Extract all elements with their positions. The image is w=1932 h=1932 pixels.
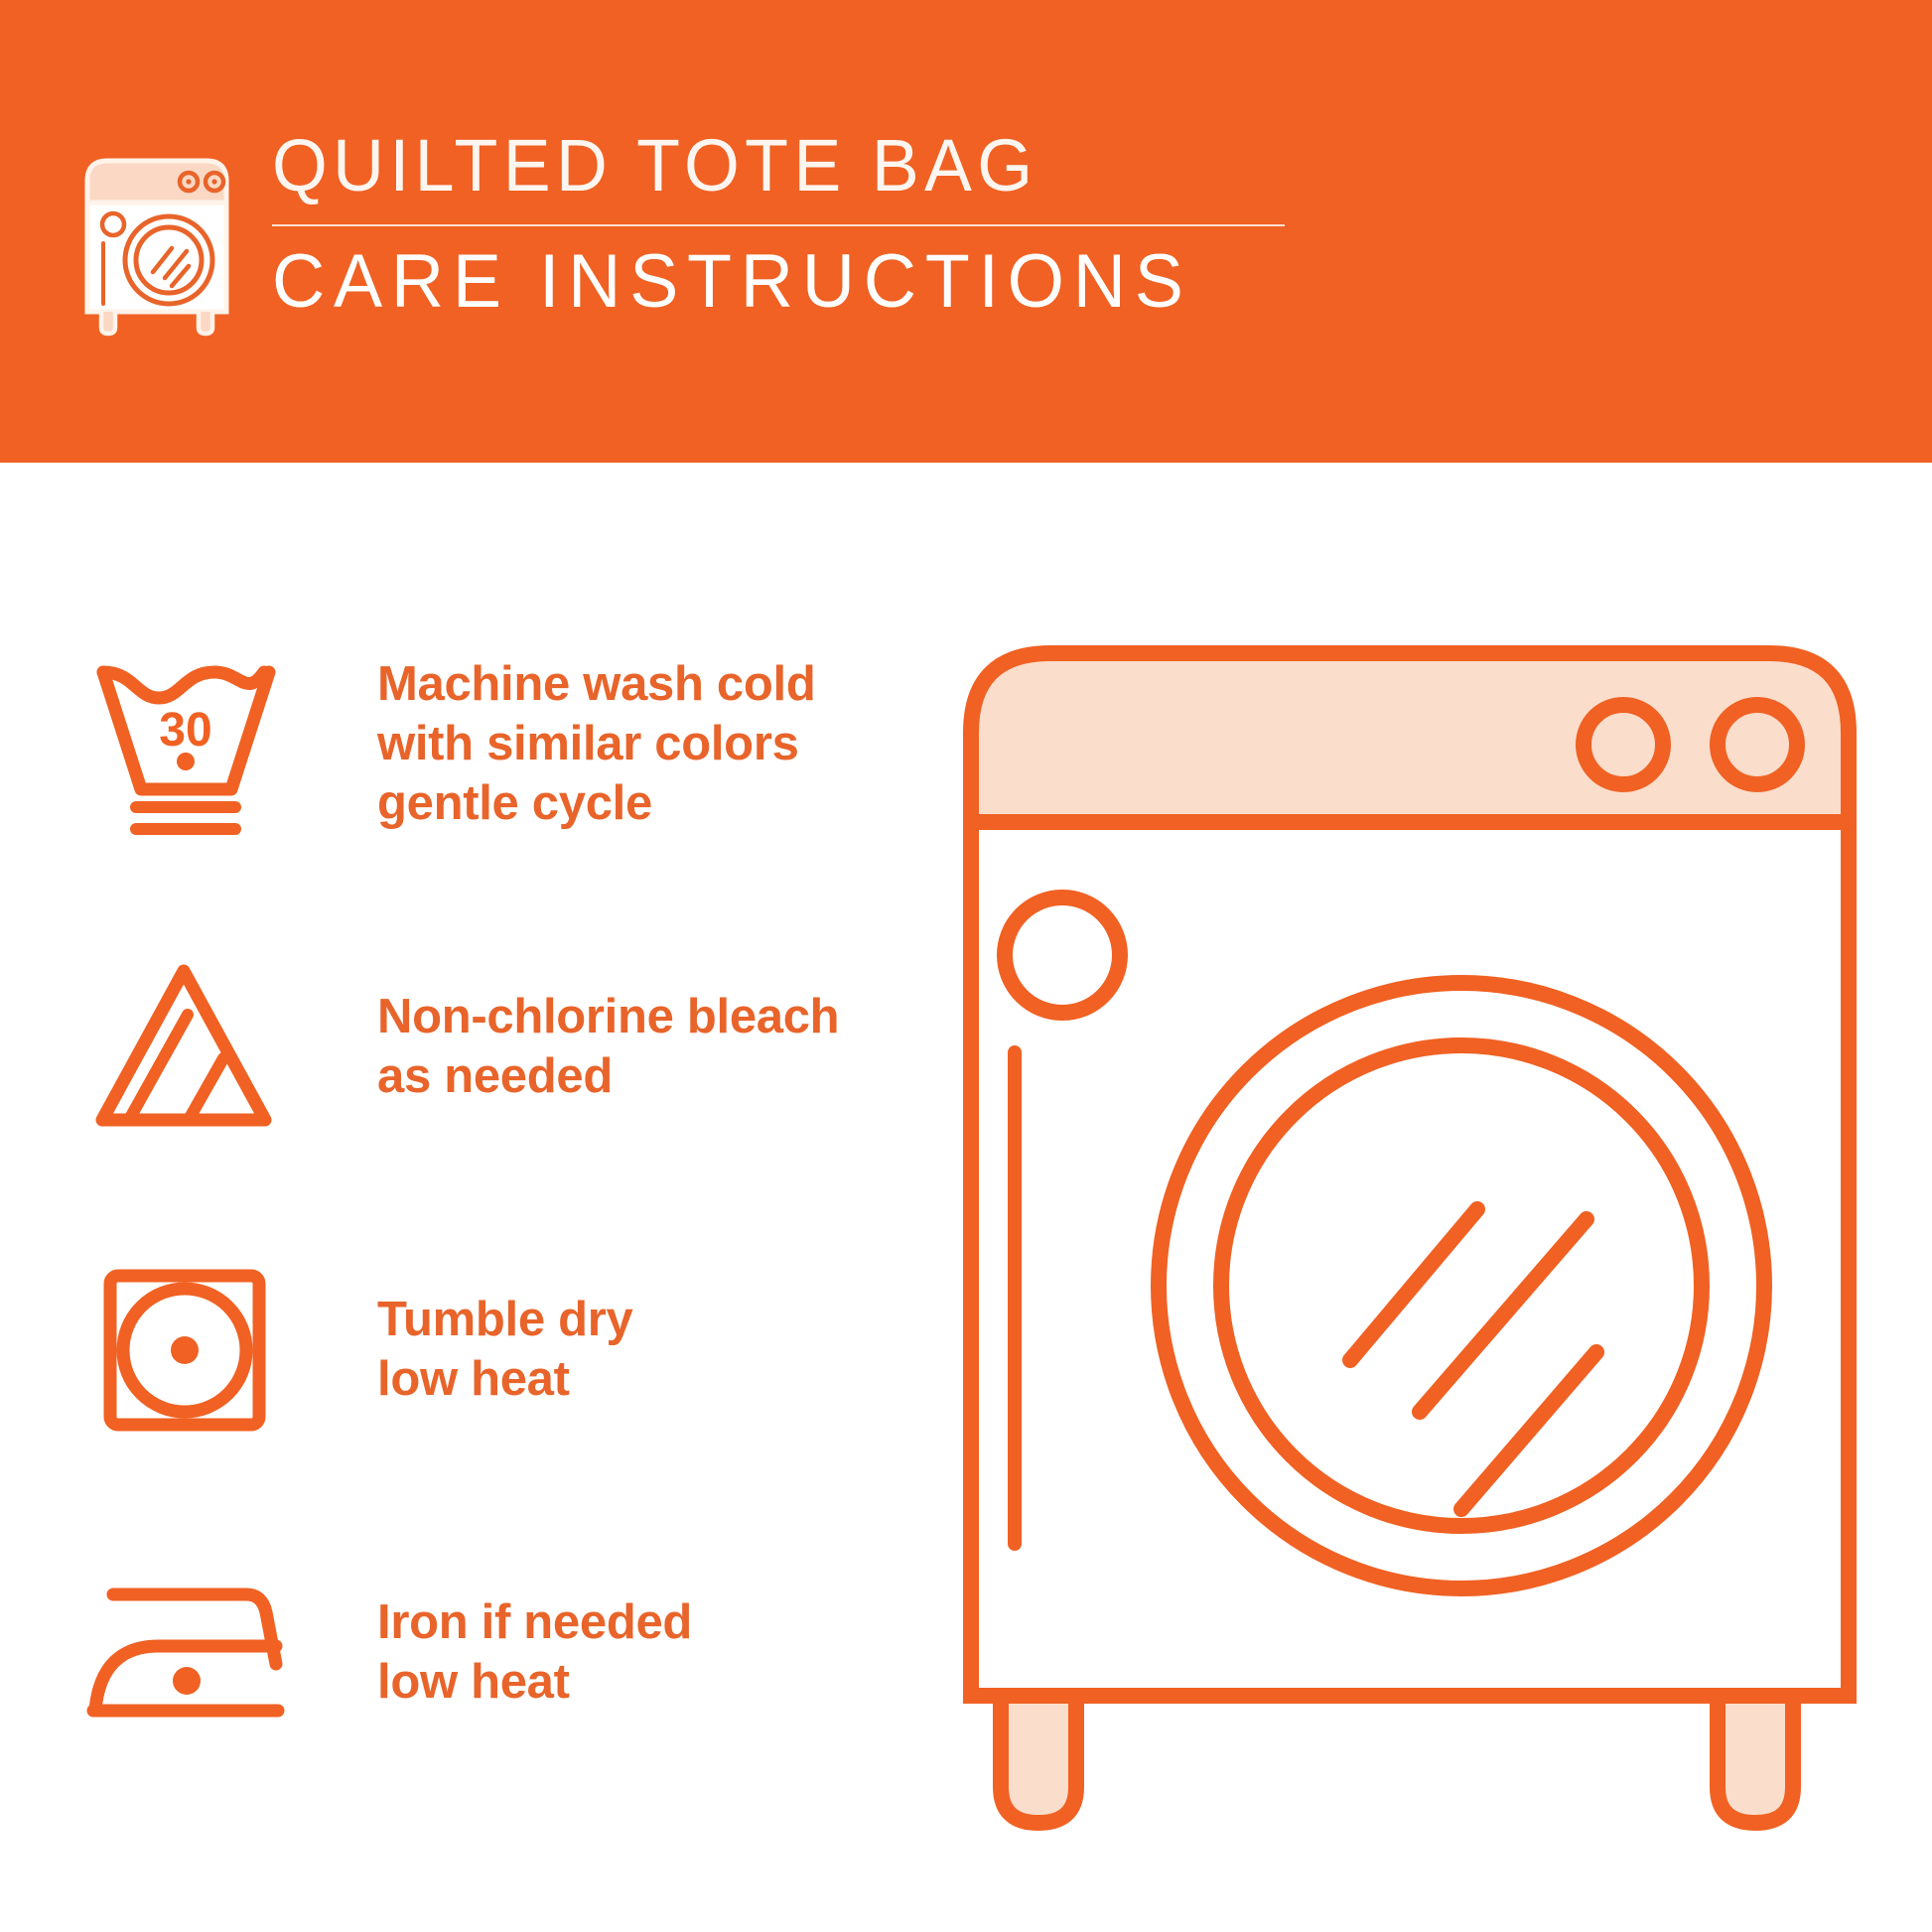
title-divider <box>272 224 1285 226</box>
machine-body <box>971 822 1849 1696</box>
care-item-tumble-dry: Tumble dry low heat <box>79 1251 953 1449</box>
wash-temperature-value: 30 <box>159 704 211 757</box>
care-instructions-list: 30 Machine wash cold with similar colors… <box>79 645 953 1752</box>
care-text-line: Tumble dry <box>377 1291 632 1350</box>
care-item-wash-text: Machine wash cold with similar colors ge… <box>377 655 815 833</box>
control-dial-left[interactable] <box>1584 705 1663 784</box>
tumble-dry-low-icon <box>79 1251 288 1449</box>
care-item-tumble-dry-text: Tumble dry low heat <box>377 1291 632 1410</box>
care-text-line: low heat <box>377 1653 692 1713</box>
care-text-line: Machine wash cold <box>377 655 815 715</box>
care-text-line: gentle cycle <box>377 774 815 834</box>
header-titles: QUILTED TOTE BAG CARE INSTRUCTIONS <box>272 127 1285 320</box>
care-text-line: with similar colors <box>377 715 815 774</box>
wash-tub-30-gentle-icon: 30 <box>79 645 288 844</box>
care-text-line: Iron if needed <box>377 1593 692 1653</box>
care-item-iron: Iron if needed low heat <box>79 1554 953 1752</box>
care-item-iron-text: Iron if needed low heat <box>377 1593 692 1713</box>
washing-machine-illustration <box>953 635 1866 1886</box>
care-text-line: as needed <box>377 1047 839 1107</box>
care-text-line: low heat <box>377 1350 632 1410</box>
care-item-bleach-text: Non-chlorine bleach as needed <box>377 988 839 1107</box>
non-chlorine-bleach-triangle-icon <box>79 948 288 1147</box>
iron-low-heat-icon <box>79 1554 288 1752</box>
care-item-wash: 30 Machine wash cold with similar colors… <box>79 645 953 844</box>
header-band: QUILTED TOTE BAG CARE INSTRUCTIONS <box>0 0 1932 463</box>
header-content: QUILTED TOTE BAG CARE INSTRUCTIONS <box>77 127 1285 339</box>
page-title: QUILTED TOTE BAG <box>272 129 1254 203</box>
care-text-line: Non-chlorine bleach <box>377 988 839 1047</box>
care-item-bleach: Non-chlorine bleach as needed <box>79 948 953 1147</box>
page-subtitle: CARE INSTRUCTIONS <box>272 244 1254 320</box>
control-dial-right[interactable] <box>1718 705 1797 784</box>
washing-machine-icon <box>77 145 236 339</box>
